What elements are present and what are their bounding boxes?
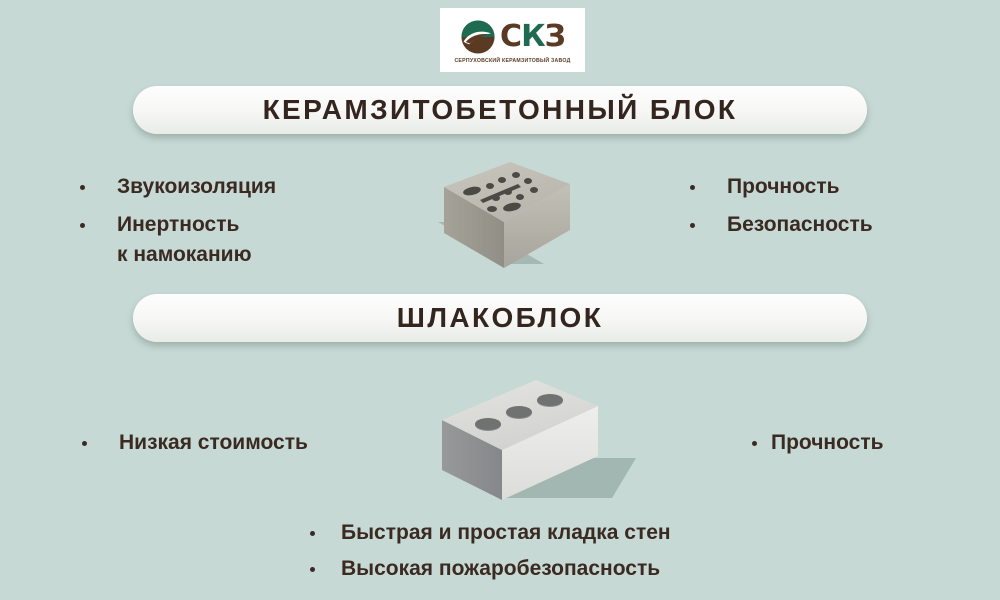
leaf-circle-icon <box>460 19 496 55</box>
list-item-label: Низкая стоимость <box>119 428 308 458</box>
list-item: Инертность к намоканию <box>80 210 276 270</box>
logo-row: СКЗ <box>460 19 565 55</box>
section-banner-shlakoblok: ШЛАКОБЛОК <box>133 294 867 342</box>
bullet-dot-icon <box>690 185 695 190</box>
banner-title-keramzit: КЕРАМЗИТОБЕТОННЫЙ БЛОК <box>263 94 738 126</box>
bullet-dot-icon <box>80 185 85 190</box>
list-item-label: Быстрая и простая кладка стен <box>341 518 671 548</box>
bullet-dot-icon <box>80 223 85 228</box>
banner-title-shlakoblok: ШЛАКОБЛОК <box>397 302 603 334</box>
bullet-dot-icon <box>310 567 315 572</box>
list-item-label: Прочность <box>727 172 840 202</box>
section-banner-keramzit: КЕРАМЗИТОБЕТОННЫЙ БЛОК <box>133 86 867 134</box>
list-item: Высокая пожаробезопасность <box>310 554 671 584</box>
bullet-list-shlakoblok-bottom: Быстрая и простая кладка стен Высокая по… <box>310 518 671 590</box>
list-item-label: Прочность <box>771 428 884 458</box>
list-item: Безопасность <box>690 210 873 240</box>
logo-letter-s: С <box>500 22 521 52</box>
bullet-list-keramzit-right: Прочность Безопасность <box>690 172 873 240</box>
logo-card: СКЗ СЕРПУХОВСКИЙ КЕРАМЗИТОВЫЙ ЗАВОД <box>440 8 585 72</box>
bullet-list-keramzit-left: Звукоизоляция Инертность к намоканию <box>80 172 276 270</box>
list-item-label: Звукоизоляция <box>117 172 276 202</box>
logo-letter-z: З <box>545 22 565 52</box>
bullet-list-shlakoblok-left: Низкая стоимость <box>82 428 308 458</box>
infographic-canvas: СКЗ СЕРПУХОВСКИЙ КЕРАМЗИТОВЫЙ ЗАВОД КЕРА… <box>0 0 1000 600</box>
bullet-dot-icon <box>82 441 87 446</box>
bullet-dot-icon <box>752 441 757 446</box>
logo-letters: СКЗ <box>500 22 565 52</box>
list-item-label: Инертность к намоканию <box>117 210 252 270</box>
list-item-label: Высокая пожаробезопасность <box>341 554 660 584</box>
list-item-label: Безопасность <box>727 210 873 240</box>
shlakoblok-illustration <box>430 378 650 508</box>
list-item: Низкая стоимость <box>82 428 308 458</box>
logo-letter-k: К <box>521 22 545 52</box>
keramzit-block-illustration <box>420 160 610 285</box>
list-item: Быстрая и простая кладка стен <box>310 518 671 548</box>
bullet-dot-icon <box>690 223 695 228</box>
logo-caption: СЕРПУХОВСКИЙ КЕРАМЗИТОВЫЙ ЗАВОД <box>454 58 570 64</box>
bullet-dot-icon <box>310 531 315 536</box>
list-item: Прочность <box>752 428 884 458</box>
list-item: Звукоизоляция <box>80 172 276 202</box>
list-item: Прочность <box>690 172 873 202</box>
bullet-list-shlakoblok-right: Прочность <box>752 428 884 458</box>
